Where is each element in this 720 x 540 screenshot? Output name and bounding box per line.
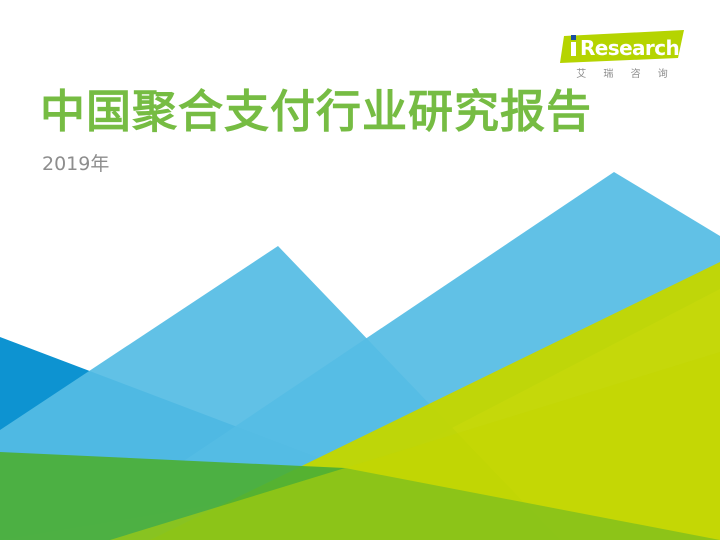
shape-lime-bottom-wash <box>110 352 720 540</box>
shape-blue-right-ridge <box>66 172 720 540</box>
shape-lime-right-field <box>150 262 720 540</box>
report-year: 2019年 <box>42 152 592 176</box>
report-cover-slide: Research 艾 瑞 咨 询 中国聚合支付行业研究报告 2019年 <box>0 0 720 540</box>
title-area: 中国聚合支付行业研究报告 2019年 <box>40 86 592 176</box>
iresearch-logo: Research 艾 瑞 咨 询 <box>560 30 684 81</box>
logo-chinese-name: 艾 瑞 咨 询 <box>560 69 684 81</box>
logo-i-stem <box>571 42 576 56</box>
shape-blue-left-wedge <box>0 337 372 540</box>
logo-wordmark: Research <box>580 36 679 60</box>
cover-background-artwork <box>0 0 720 540</box>
shape-blue-left-peak <box>0 246 560 540</box>
page-title: 中国聚合支付行业研究报告 <box>40 86 592 138</box>
iresearch-logo-mark: Research <box>560 30 684 64</box>
logo-i-dot <box>571 35 576 40</box>
shape-green-base-field <box>0 452 720 540</box>
